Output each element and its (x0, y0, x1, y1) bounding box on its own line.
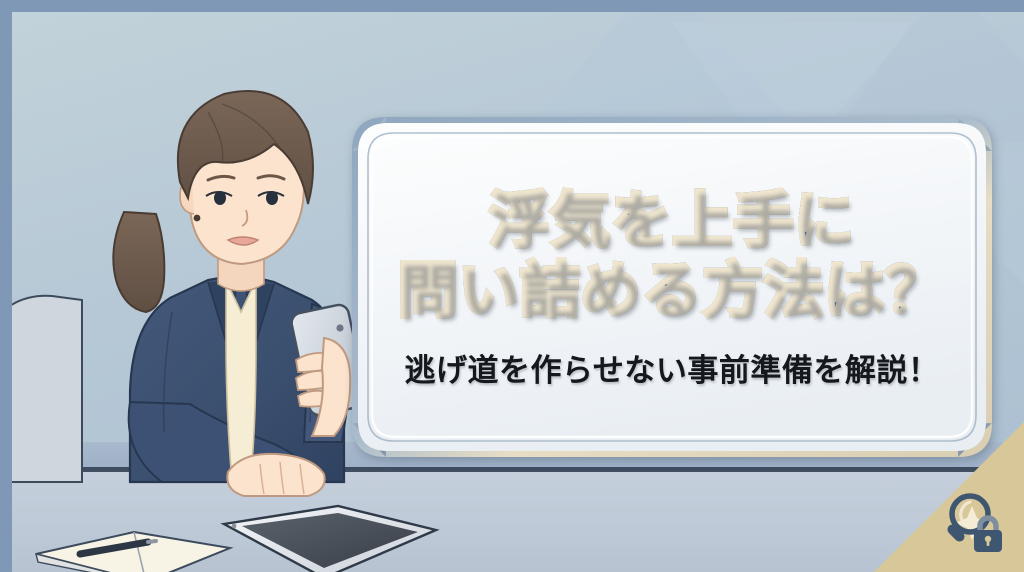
headline-subtitle: 逃げ道を作らせない事前準備を解説！ (405, 345, 940, 390)
title-panel: 浮気を上手に 問い詰める方法は？ 逃げ道を作らせない事前準備を解説！ (352, 117, 992, 457)
office-chair (12, 296, 82, 482)
hair-ponytail (113, 212, 164, 312)
headline-line-1: 浮気を上手に (489, 188, 855, 256)
notebook-with-pen (30, 524, 260, 572)
thumbnail-canvas: 浮気を上手に 問い詰める方法は？ 逃げ道を作らせない事前準備を解説！ (0, 0, 1024, 572)
outer-border-top (0, 0, 1024, 12)
woman-face (178, 91, 313, 264)
title-text-block: 浮気を上手に 問い詰める方法は？ 逃げ道を作らせない事前準備を解説！ (352, 117, 992, 457)
outer-border-left (0, 0, 12, 572)
magnifier-lock-logo (938, 486, 1010, 558)
artboard: 浮気を上手に 問い詰める方法は？ 逃げ道を作らせない事前準備を解説！ (12, 12, 1024, 572)
cream-blouse (226, 280, 256, 482)
headline-line-2: 問い詰める方法は？ (398, 258, 947, 326)
